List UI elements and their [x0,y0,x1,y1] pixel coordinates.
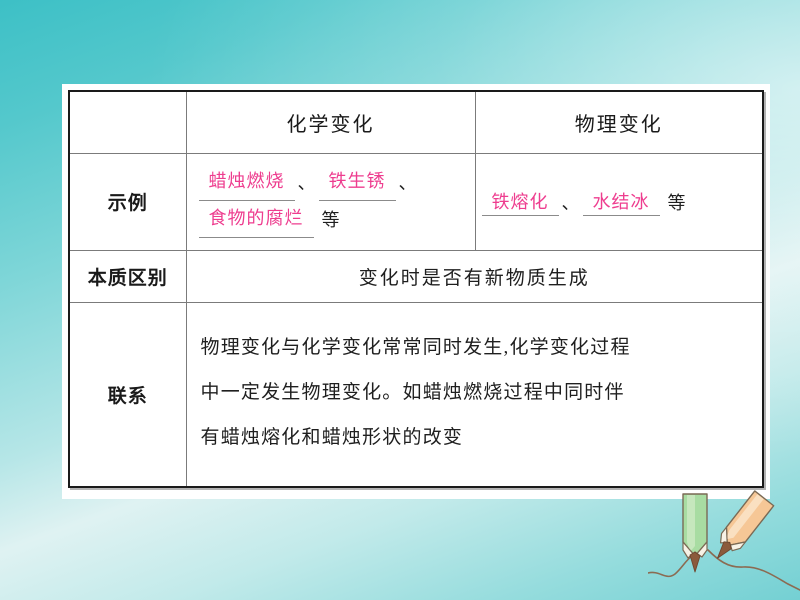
chemical-blank-3: 食物的腐烂 [199,201,314,238]
orange-pencil-icon [708,491,774,566]
header-physical-change: 物理变化 [475,91,763,153]
physical-blank-2: 水结冰 [583,188,660,216]
table-row-relation: 联系 物理变化与化学变化常常同时发生,化学变化过程 中一定发生物理变化。如蜡烛燃… [69,302,763,487]
relation-line-1: 物理变化与化学变化常常同时发生,化学变化过程 [201,326,747,371]
squiggle-icon [648,550,800,590]
physical-examples-line-1: 铁熔化 、 水结冰 等 [482,188,753,216]
table-row-examples: 示例 蜡烛燃烧 、 铁生锈 、 食物的腐烂 等 铁熔化 [69,153,763,250]
header-chemical-change: 化学变化 [186,91,475,153]
chemical-etc: 等 [314,203,343,238]
pencils-decoration [648,488,800,600]
row-label-essential-difference: 本质区别 [69,250,186,302]
comparison-table: 化学变化 物理变化 示例 蜡烛燃烧 、 铁生锈 、 食物的腐烂 等 [68,90,764,488]
physical-blank-1: 铁熔化 [482,188,559,216]
slide-background: 化学变化 物理变化 示例 蜡烛燃烧 、 铁生锈 、 食物的腐烂 等 [0,0,800,600]
cell-physical-examples: 铁熔化 、 水结冰 等 [475,153,763,250]
chemical-examples-line-1: 蜡烛燃烧 、 铁生锈 、 [199,164,463,201]
physical-etc: 等 [660,189,689,215]
chemical-blank-1: 蜡烛燃烧 [199,164,295,201]
row-label-examples: 示例 [69,153,186,250]
relation-line-3: 有蜡烛熔化和蜡烛形状的改变 [201,416,747,461]
table-row-essential-difference: 本质区别 变化时是否有新物质生成 [69,250,763,302]
cell-essential-difference: 变化时是否有新物质生成 [186,250,763,302]
chemical-separator-1: 、 [295,166,319,201]
cell-chemical-examples: 蜡烛燃烧 、 铁生锈 、 食物的腐烂 等 [186,153,475,250]
chemical-separator-2: 、 [396,166,420,201]
physical-separator-1: 、 [559,189,583,215]
chemical-blank-2: 铁生锈 [319,164,396,201]
table-corner-cell [69,91,186,153]
chemical-examples-line-2: 食物的腐烂 等 [199,201,463,238]
row-label-relation: 联系 [69,302,186,487]
cell-relation: 物理变化与化学变化常常同时发生,化学变化过程 中一定发生物理变化。如蜡烛燃烧过程… [186,302,763,487]
relation-line-2: 中一定发生物理变化。如蜡烛燃烧过程中同时伴 [201,371,747,416]
table-header-row: 化学变化 物理变化 [69,91,763,153]
